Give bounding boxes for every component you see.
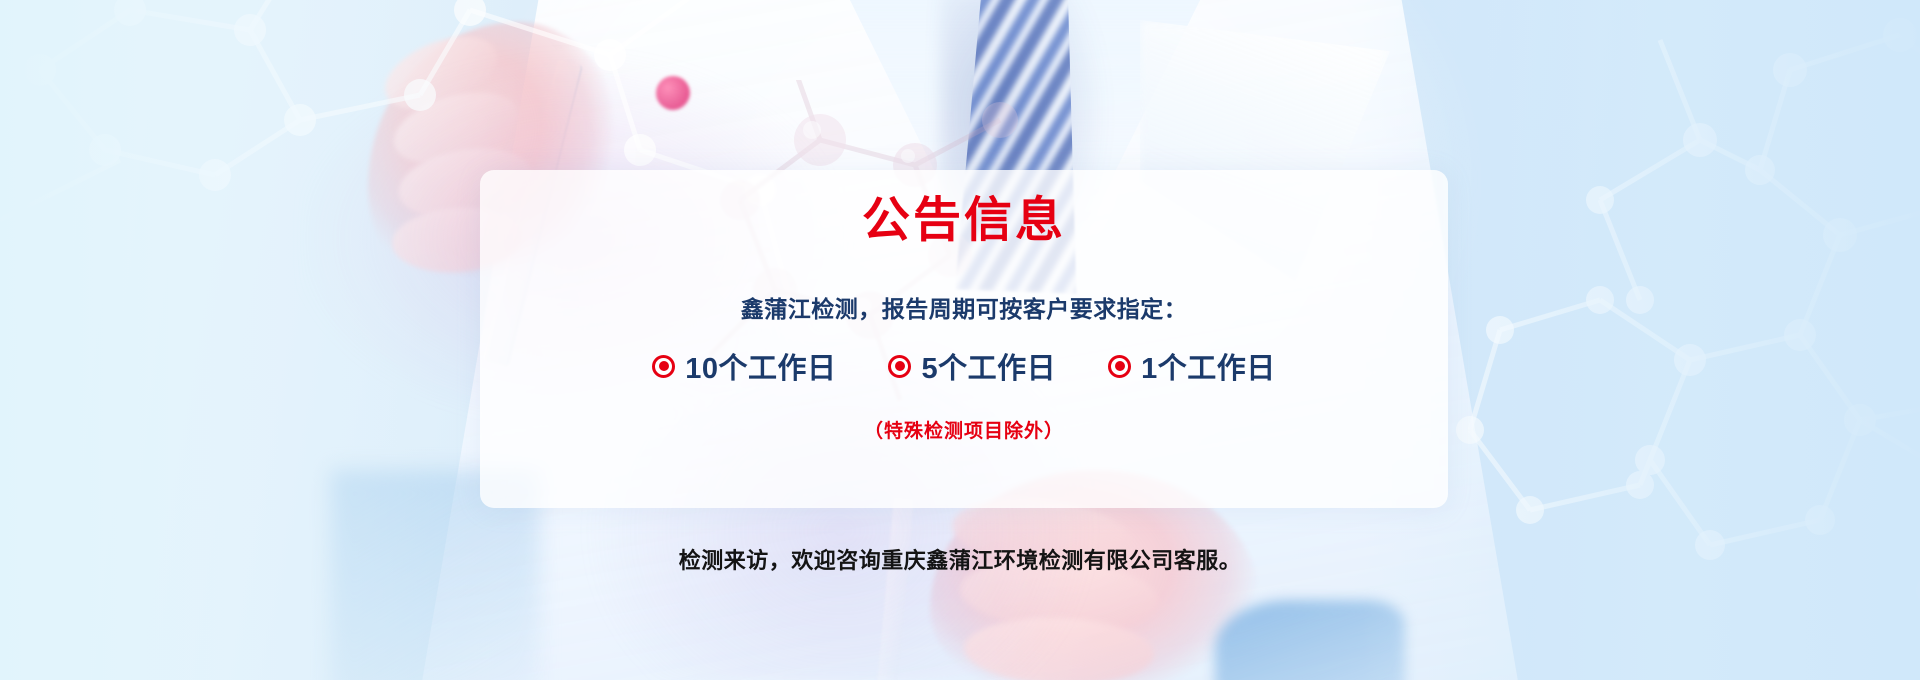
option-item[interactable]: 1个工作日 [1108, 345, 1276, 387]
footer-contact-text: 检测来访，欢迎咨询重庆鑫蒲江环境检测有限公司客服。 [0, 543, 1920, 575]
option-label: 10个工作日 [685, 345, 836, 387]
exclusion-note: （特殊检测项目除外） [480, 416, 1448, 443]
promo-banner: 公告信息 鑫蒲江检测，报告周期可按客户要求指定： 10个工作日 5个工作日 1个… [0, 0, 1920, 680]
left-edge-fade [0, 0, 520, 680]
turnaround-options-list: 10个工作日 5个工作日 1个工作日 [480, 345, 1448, 387]
bullseye-icon [888, 355, 911, 378]
announcement-subtitle: 鑫蒲江检测，报告周期可按客户要求指定： [480, 290, 1448, 324]
bullseye-icon [652, 355, 675, 378]
option-item[interactable]: 5个工作日 [888, 345, 1056, 387]
option-label: 1个工作日 [1141, 345, 1276, 387]
option-item[interactable]: 10个工作日 [652, 345, 836, 387]
bullseye-icon [1108, 355, 1131, 378]
option-label: 5个工作日 [921, 345, 1056, 387]
page-title: 公告信息 [480, 197, 1448, 245]
announcement-card: 公告信息 鑫蒲江检测，报告周期可按客户要求指定： 10个工作日 5个工作日 1个… [480, 170, 1448, 508]
